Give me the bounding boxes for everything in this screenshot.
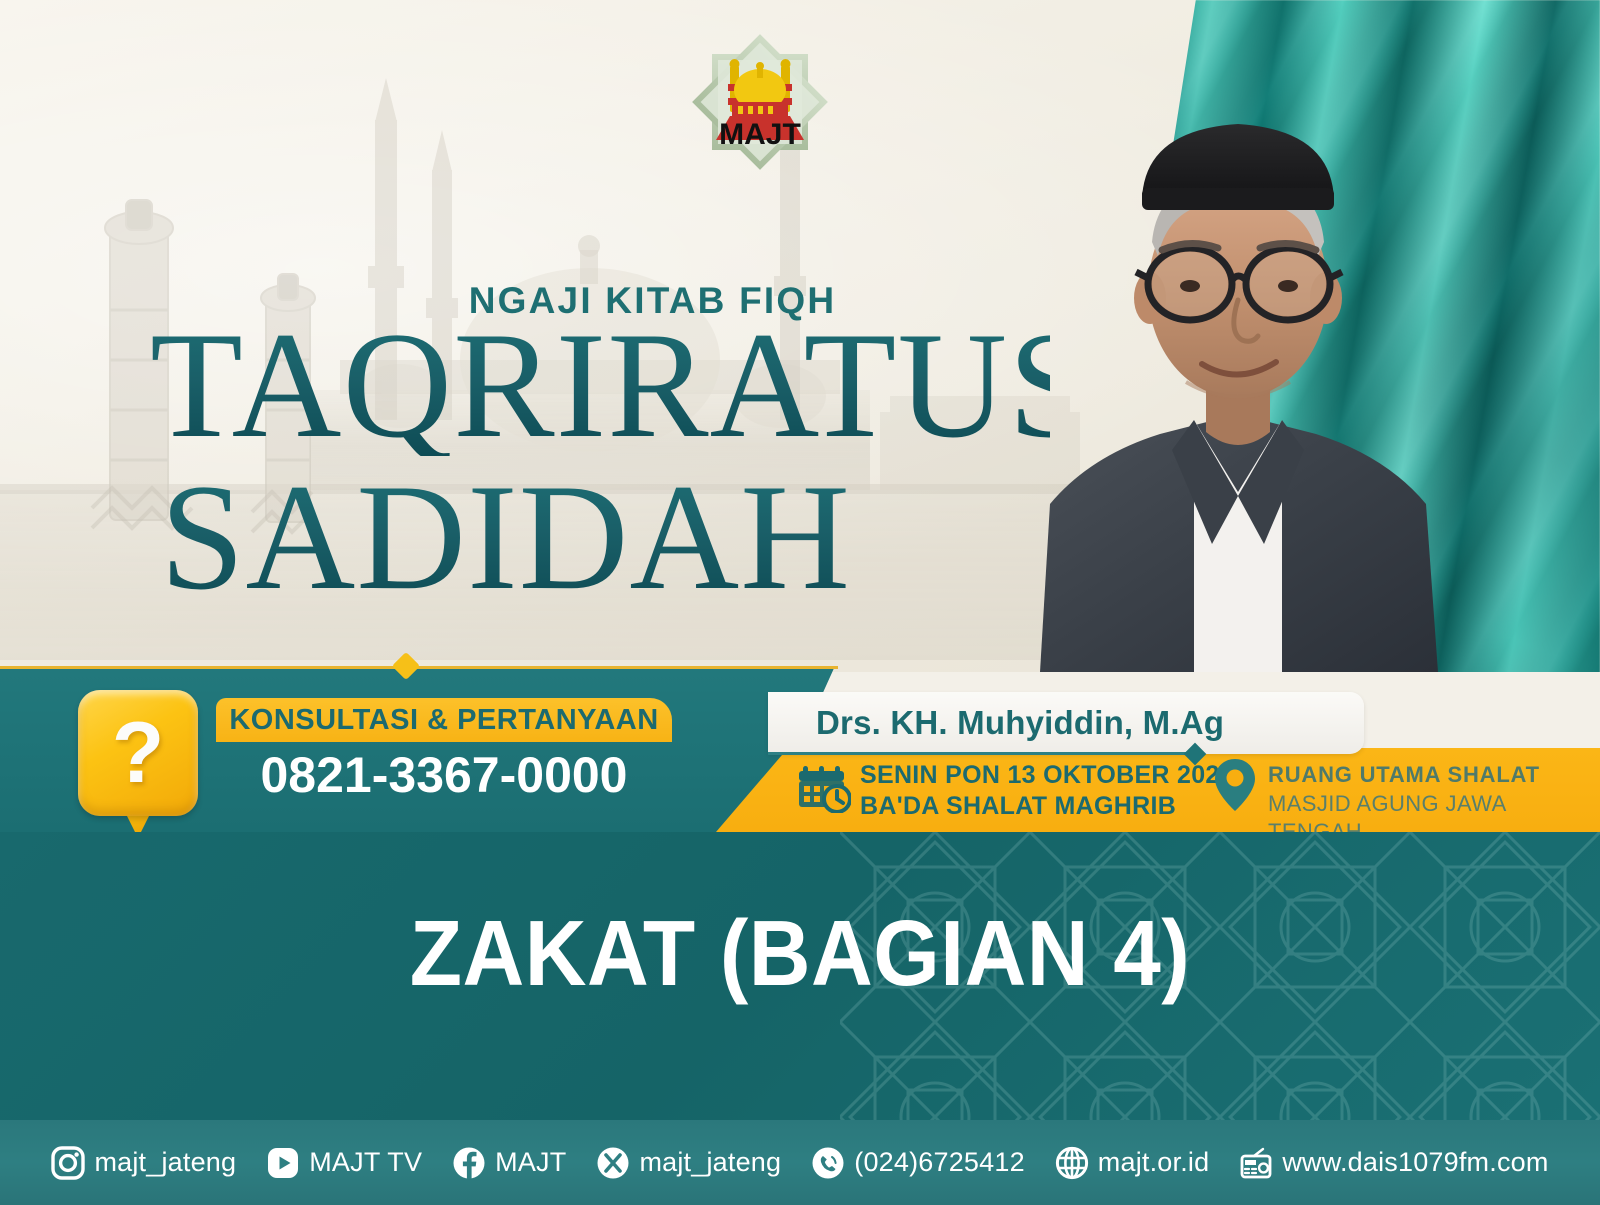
consultation-phone-box[interactable]: 0821-3367-0000: [216, 742, 672, 808]
footer-label-instagram: majt_jateng: [94, 1147, 236, 1178]
consultation-phone: 0821-3367-0000: [261, 746, 628, 804]
instagram-icon: [51, 1146, 85, 1180]
top-hero-area: MAJT NGAJI KITAB FIQH TAQRIRATUS SADIDAH: [0, 0, 1600, 672]
topic-title: ZAKAT (BAGIAN 4): [64, 900, 1536, 1007]
footer-item-radio[interactable]: www.dais1079fm.com: [1239, 1146, 1548, 1180]
footer-item-website[interactable]: majt.or.id: [1055, 1146, 1210, 1180]
youtube-icon: [266, 1146, 300, 1180]
poster-root: MAJT NGAJI KITAB FIQH TAQRIRATUS SADIDAH…: [0, 0, 1600, 1205]
footer-label-x-twitter: majt_jateng: [639, 1147, 781, 1178]
footer-label-facebook: MAJT: [495, 1147, 566, 1178]
globe-icon: [1055, 1146, 1089, 1180]
footer-item-youtube[interactable]: MAJT TV: [266, 1146, 422, 1180]
footer-social-bar: majt_jateng MAJT TV MAJT: [0, 1120, 1600, 1205]
footer-item-x-twitter[interactable]: majt_jateng: [596, 1146, 781, 1180]
schedule-date: SENIN PON 13 OKTOBER 2025: [860, 760, 1234, 791]
footer-label-phone: (024)6725412: [854, 1147, 1025, 1178]
title-line-2: SADIDAH: [150, 468, 1050, 608]
question-mark-glyph-icon: ?: [78, 690, 198, 816]
speaker-name: Drs. KH. Muhyiddin, M.Ag: [816, 704, 1224, 742]
schedule-block: SENIN PON 13 OKTOBER 2025 BA'DA SHALAT M…: [860, 760, 1234, 822]
phone-icon: [811, 1146, 845, 1180]
footer-label-youtube: MAJT TV: [309, 1147, 422, 1178]
footer-item-phone[interactable]: (024)6725412: [811, 1146, 1025, 1180]
speaker-name-underline: [768, 752, 1198, 755]
map-pin-icon: [1213, 757, 1257, 813]
title-line-1: TAQRIRATUS: [150, 316, 1050, 456]
consultation-label: KONSULTASI & PERTANYAAN: [229, 704, 658, 737]
footer-item-instagram[interactable]: majt_jateng: [51, 1146, 236, 1180]
calendar-clock-icon: [795, 757, 851, 813]
location-venue: RUANG UTAMA SHALAT: [1268, 761, 1600, 790]
schedule-time: BA'DA SHALAT MAGHRIB: [860, 791, 1234, 822]
speaker-name-panel: Drs. KH. Muhyiddin, M.Ag: [768, 692, 1364, 754]
headline-block: NGAJI KITAB FIQH TAQRIRATUS SADIDAH: [150, 280, 1050, 608]
consultation-label-pill: KONSULTASI & PERTANYAAN: [216, 698, 672, 742]
footer-label-website: majt.or.id: [1098, 1147, 1210, 1178]
x-twitter-icon: [596, 1146, 630, 1180]
footer-item-facebook[interactable]: MAJT: [452, 1146, 566, 1180]
majt-logo: MAJT: [686, 28, 834, 176]
radio-icon: [1239, 1146, 1273, 1180]
footer-label-radio: www.dais1079fm.com: [1282, 1147, 1548, 1178]
majt-logo-text: MAJT: [719, 118, 801, 151]
facebook-icon: [452, 1146, 486, 1180]
